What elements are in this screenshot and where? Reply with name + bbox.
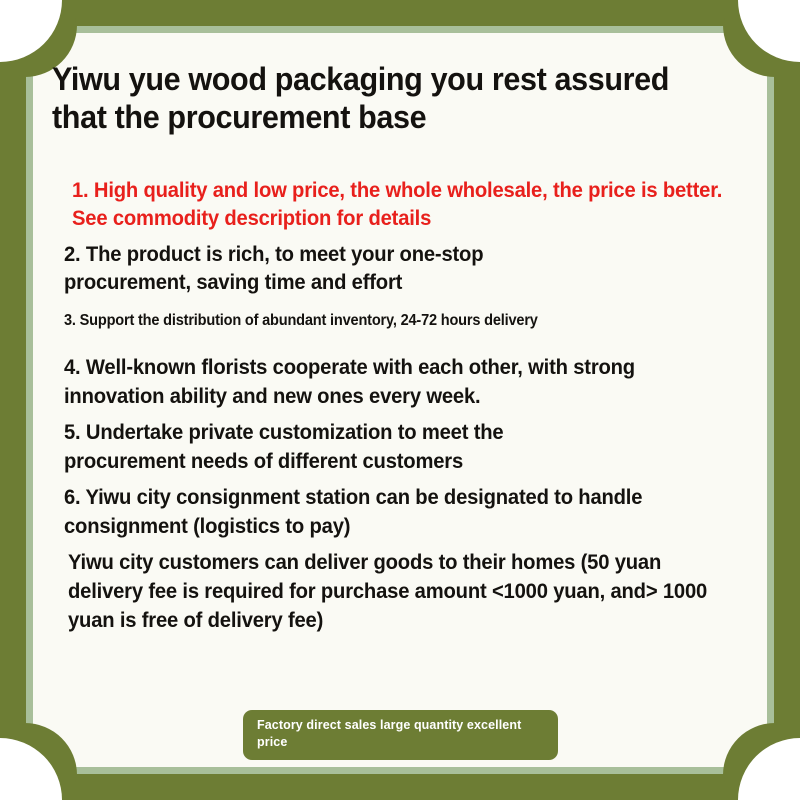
benefit-list: 1. High quality and low price, the whole…: [64, 176, 764, 561]
factory-price-banner: Factory direct sales large quantity exce…: [243, 710, 558, 760]
benefit-item-5: 5. Undertake private customization to me…: [64, 418, 628, 475]
benefit-item-1: 1. High quality and low price, the whole…: [72, 176, 749, 233]
promotional-poster: Yiwu yue wood packaging you rest assured…: [0, 0, 800, 800]
benefit-item-6: 6. Yiwu city consignment station can be …: [64, 483, 741, 540]
poster-title: Yiwu yue wood packaging you rest assured…: [52, 60, 710, 137]
benefit-item-2: 2. The product is rich, to meet your one…: [64, 240, 553, 297]
delivery-policy-note: Yiwu city customers can deliver goods to…: [68, 548, 707, 636]
benefit-item-3: 3. Support the distribution of abundant …: [64, 311, 722, 331]
benefit-item-4: 4. Well-known florists cooperate with ea…: [64, 353, 666, 410]
